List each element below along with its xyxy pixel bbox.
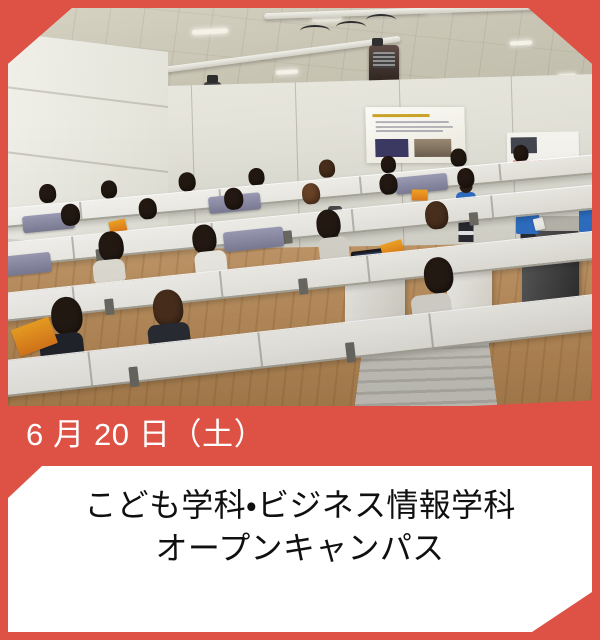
event-date: 6 月 20 日（土） bbox=[26, 411, 265, 459]
desk-divider bbox=[257, 332, 263, 366]
desk-divider bbox=[87, 351, 93, 385]
desk-divider bbox=[219, 271, 224, 297]
cable bbox=[300, 25, 330, 37]
desk-bracket bbox=[345, 342, 356, 363]
student-head bbox=[318, 159, 336, 178]
slide-text-line bbox=[376, 130, 443, 132]
orange-booklet bbox=[412, 189, 428, 200]
slide-text-line bbox=[376, 126, 453, 128]
student-head bbox=[380, 155, 396, 173]
desk-divider bbox=[428, 313, 434, 347]
chair-back bbox=[0, 252, 52, 278]
date-band: 6 月 20 日（土） bbox=[0, 400, 600, 468]
event-card[interactable]: 6 月 20 日（土） こども学科・ビジネス情報学科 オープンキャンパス bbox=[0, 0, 600, 640]
event-title: こども学科・ビジネス情報学科 オープンキャンパス bbox=[84, 484, 515, 570]
slide-accent-bar bbox=[372, 114, 430, 117]
student-head bbox=[38, 183, 57, 203]
desk-bracket bbox=[128, 366, 139, 387]
slide-text-line bbox=[376, 122, 449, 124]
title-card: こども学科・ビジネス情報学科 オープンキャンパス bbox=[8, 466, 592, 632]
lecture-hall-photo-scene bbox=[0, 0, 600, 412]
slide-image bbox=[375, 139, 408, 157]
event-photo bbox=[0, 0, 600, 412]
wall-seam bbox=[0, 84, 168, 108]
desk-divider bbox=[366, 255, 371, 281]
cable bbox=[336, 21, 366, 33]
wall-seam bbox=[0, 150, 168, 174]
